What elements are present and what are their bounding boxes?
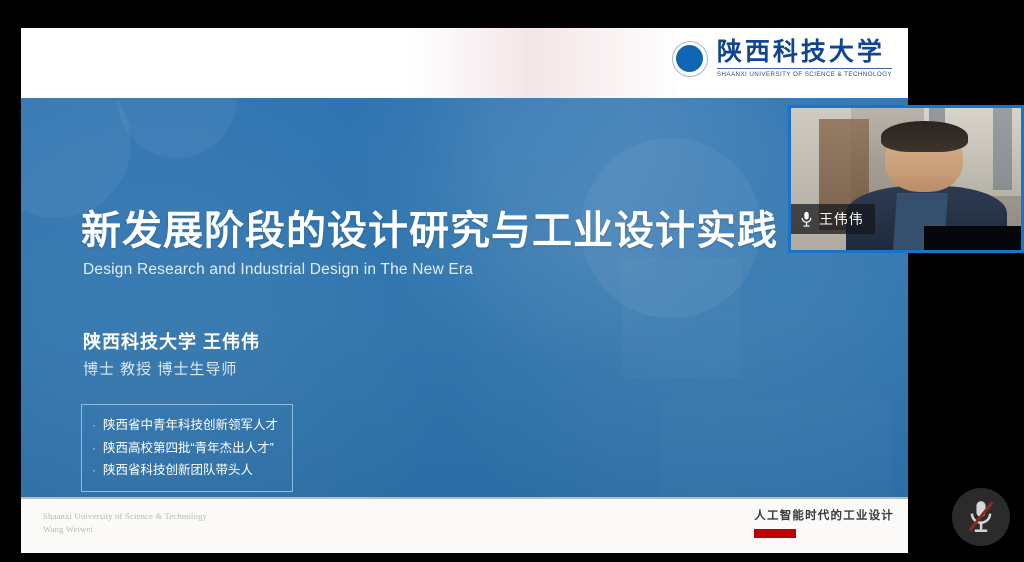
bullet-icon: ·: [92, 464, 96, 476]
honor-label: 陕西省科技创新团队带头人: [103, 464, 253, 477]
honors-box: · 陕西省中青年科技创新领军人才 · 陕西高校第四批“青年杰出人才” · 陕西省…: [81, 404, 293, 492]
university-emblem-icon: [672, 41, 708, 77]
footer-line-2: Wang Weiwei: [43, 523, 207, 536]
mute-toggle-button[interactable]: [952, 488, 1010, 546]
bullet-icon: ·: [92, 442, 96, 454]
video-conference-screen: 陕西科技大学 SHAANXI UNIVERSITY OF SCIENCE & T…: [0, 0, 1024, 562]
logo-text-block: 陕西科技大学 SHAANXI UNIVERSITY OF SCIENCE & T…: [717, 40, 892, 78]
honor-label: 陕西高校第四批“青年杰出人才”: [103, 442, 274, 455]
logo-name-cn: 陕西科技大学: [717, 40, 892, 66]
shared-screen-slide[interactable]: 陕西科技大学 SHAANXI UNIVERSITY OF SCIENCE & T…: [21, 28, 908, 553]
honor-item: · 陕西高校第四批“青年杰出人才”: [92, 437, 278, 460]
video-curtain: [993, 108, 1011, 190]
participant-name: 王伟伟: [819, 209, 863, 229]
honor-item: · 陕西省中青年科技创新领军人才: [92, 414, 278, 437]
slide-header: 陕西科技大学 SHAANXI UNIVERSITY OF SCIENCE & T…: [21, 28, 908, 98]
participant-name-badge: 王伟伟: [791, 204, 875, 234]
slide-body: 新发展阶段的设计研究与工业设计实践 Design Research and In…: [21, 98, 908, 497]
logo-name-en: SHAANXI UNIVERSITY OF SCIENCE & TECHNOLO…: [717, 68, 892, 78]
speaker-affiliation: 陕西科技大学 王伟伟: [83, 328, 260, 354]
header-gradient-wash: [411, 28, 677, 98]
video-dark-corner: [924, 226, 1021, 250]
footer-accent-bar: [754, 529, 796, 538]
microphone-muted-icon: [966, 500, 996, 534]
university-logo: 陕西科技大学 SHAANXI UNIVERSITY OF SCIENCE & T…: [672, 40, 892, 78]
footer-topic-cn: 人工智能时代的工业设计: [754, 507, 894, 523]
bullet-icon: ·: [92, 419, 96, 431]
footer-affiliation-en: Shaanxi University of Science & Technolo…: [43, 510, 207, 536]
slide-footer: Shaanxi University of Science & Technolo…: [21, 497, 908, 553]
footer-line-1: Shaanxi University of Science & Technolo…: [43, 510, 207, 523]
speaker-credentials: 博士 教授 博士生导师: [83, 358, 237, 379]
video-person-hair: [881, 121, 968, 152]
participant-video-tile[interactable]: 王伟伟: [788, 105, 1024, 253]
footer-topic-block: 人工智能时代的工业设计: [754, 507, 894, 538]
slide-title-en: Design Research and Industrial Design in…: [83, 261, 473, 279]
microphone-icon: [800, 211, 813, 228]
slide-title-cn: 新发展阶段的设计研究与工业设计实践: [81, 198, 778, 256]
honor-item: · 陕西省科技创新团队带头人: [92, 459, 278, 482]
decorative-shape: [621, 258, 741, 378]
decorative-shape: [661, 398, 891, 497]
honor-label: 陕西省中青年科技创新领军人才: [103, 419, 278, 432]
